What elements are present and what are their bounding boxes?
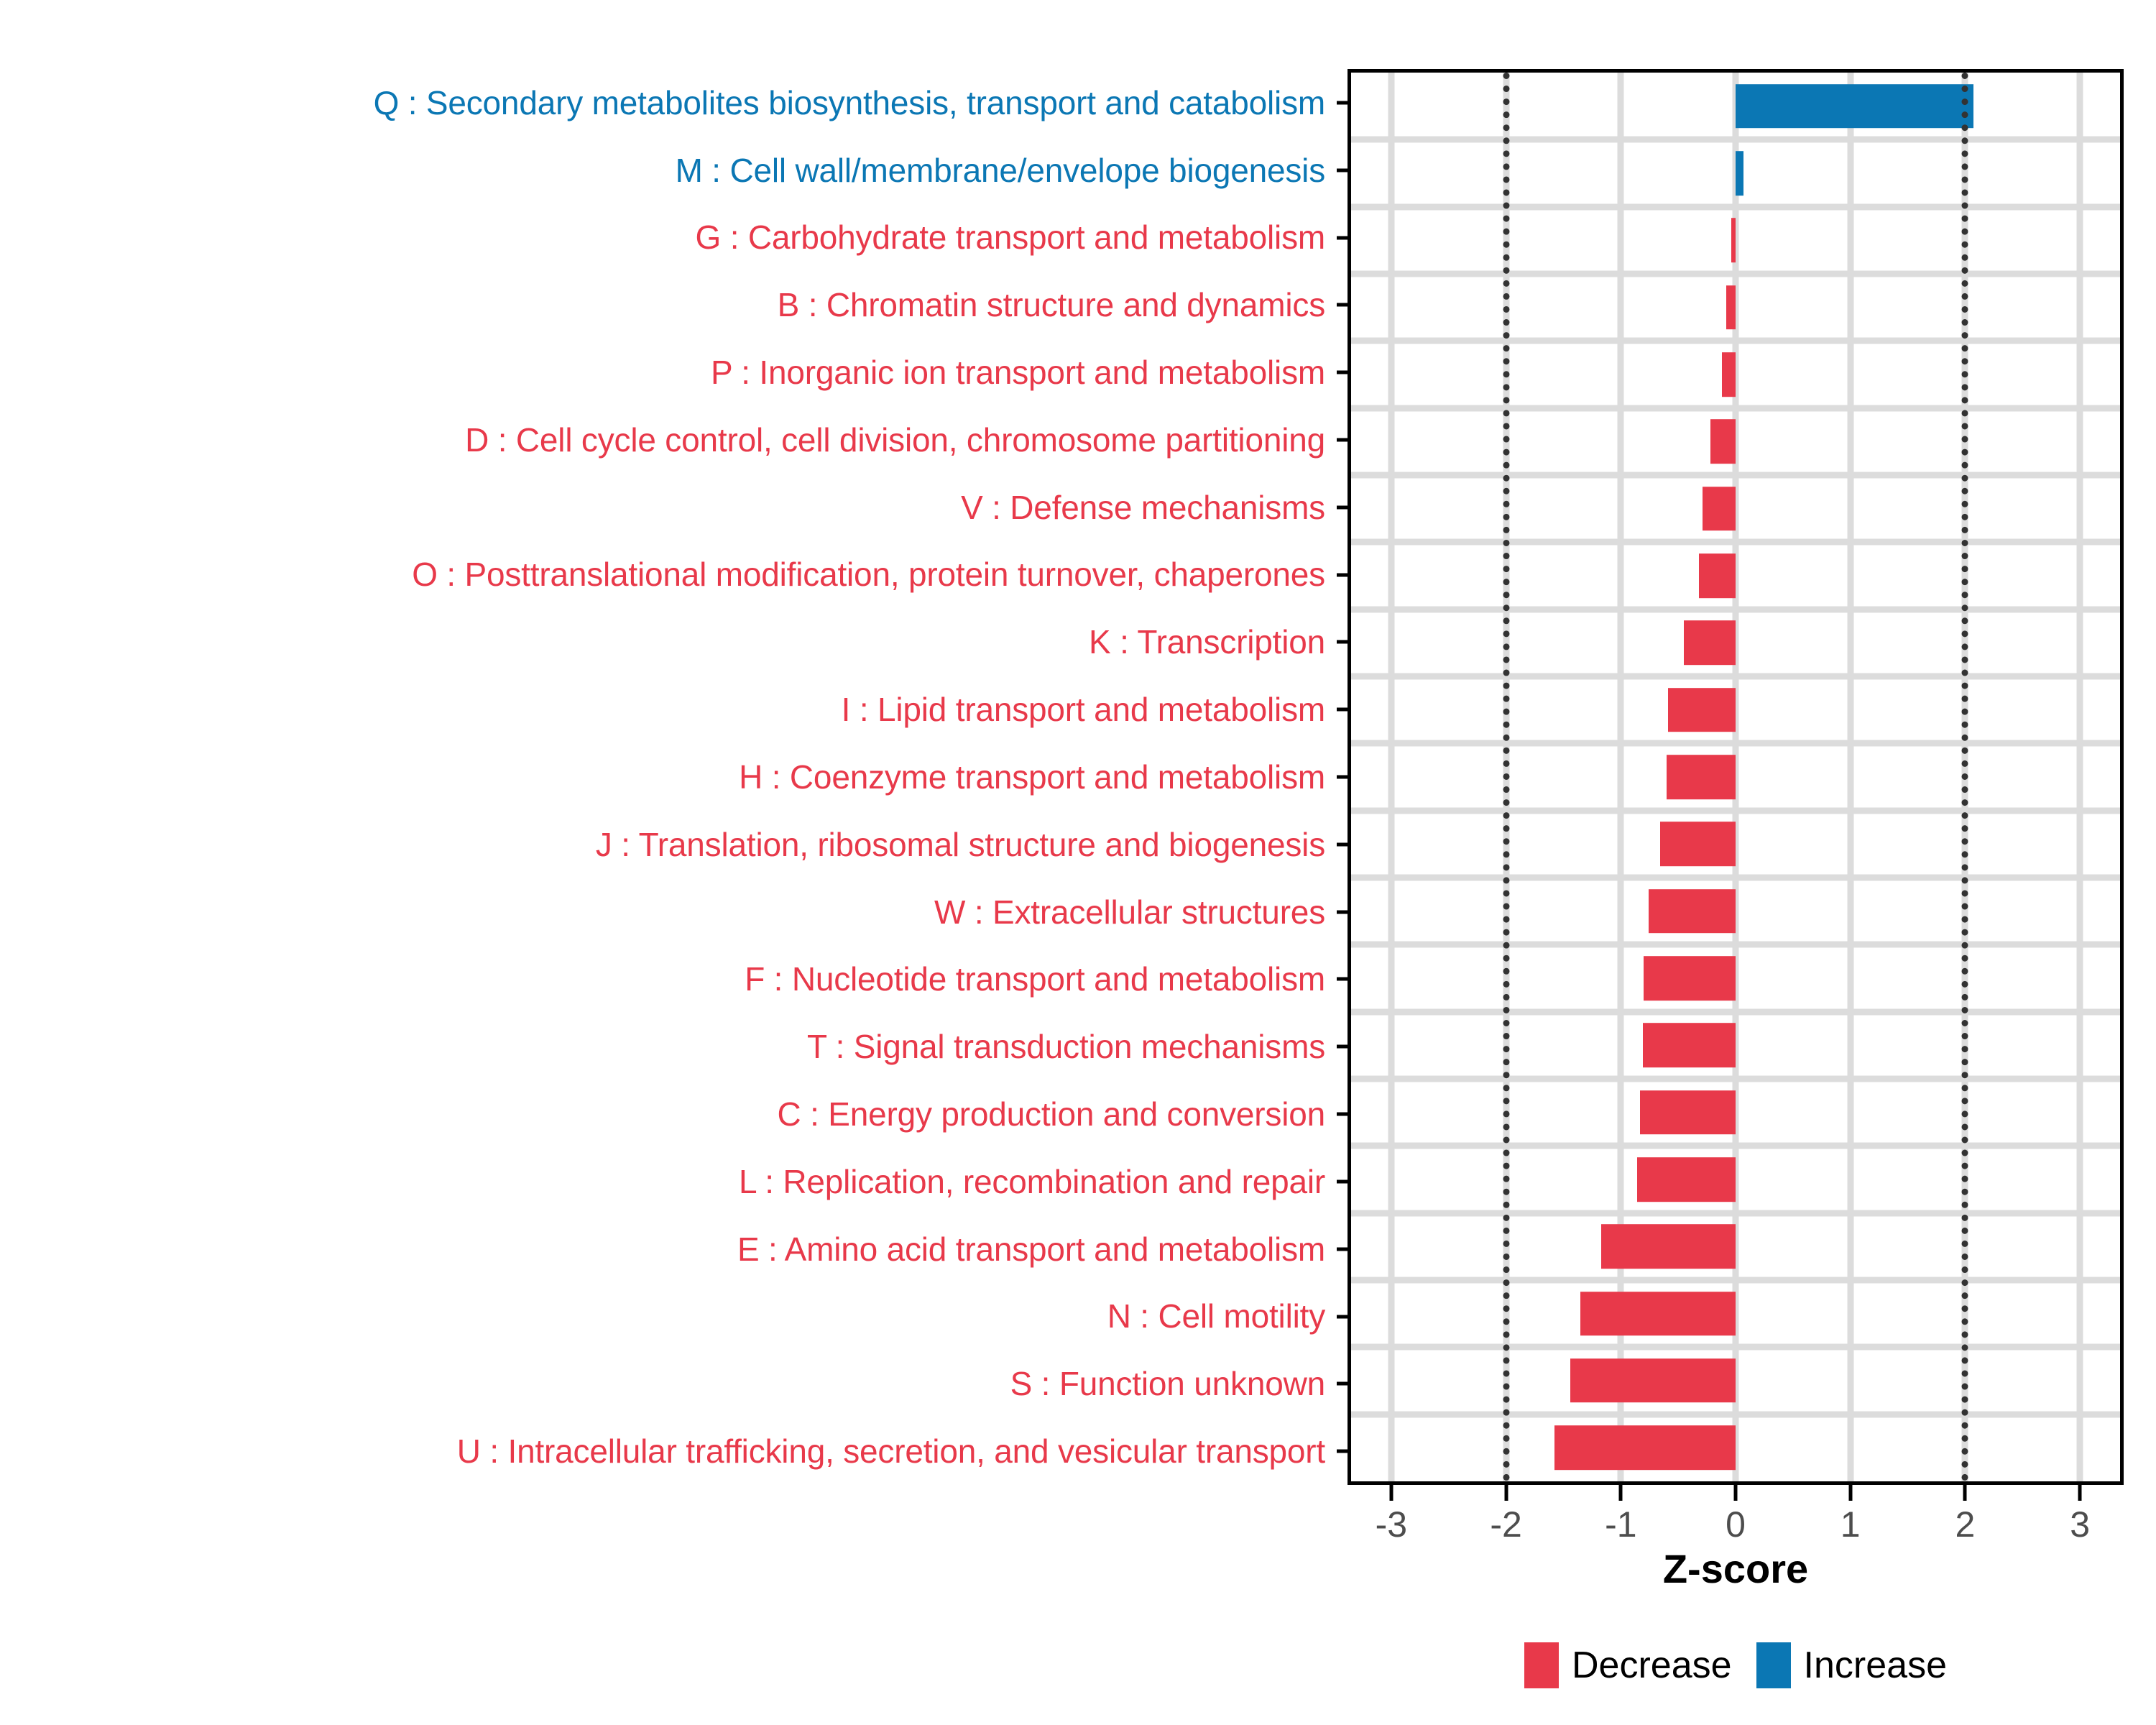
bar[interactable] bbox=[1667, 755, 1736, 799]
y-axis-tick bbox=[1337, 1045, 1347, 1049]
y-axis-label-row: W : Extracellular structures bbox=[0, 878, 1337, 946]
y-axis-category-label: M : Cell wall/membrane/envelope biogenes… bbox=[676, 153, 1325, 188]
y-axis-tick bbox=[1337, 101, 1347, 104]
bar[interactable] bbox=[1649, 889, 1736, 934]
y-axis-category-label: O : Posttranslational modification, prot… bbox=[412, 557, 1325, 592]
y-axis-label-row: H : Coenzyme transport and metabolism bbox=[0, 743, 1337, 811]
y-axis-label-row: F : Nucleotide transport and metabolism bbox=[0, 946, 1337, 1013]
bar[interactable] bbox=[1726, 285, 1736, 330]
x-axis-tick bbox=[1734, 1485, 1738, 1501]
x-axis-tick-label: -2 bbox=[1490, 1504, 1521, 1545]
bar-row bbox=[1351, 73, 2120, 139]
x-axis-tick bbox=[1504, 1485, 1508, 1501]
y-axis-label-row: S : Function unknown bbox=[0, 1350, 1337, 1417]
x-axis-tick-label: 1 bbox=[1841, 1504, 1861, 1545]
y-axis-tick bbox=[1337, 371, 1347, 374]
y-axis-category-label: E : Amino acid transport and metabolism bbox=[737, 1232, 1325, 1266]
y-axis-tick-row bbox=[1337, 1215, 1347, 1283]
plot-panel bbox=[1347, 69, 2124, 1485]
y-axis-category-label: T : Signal transduction mechanisms bbox=[807, 1029, 1325, 1064]
y-axis-label-row: P : Inorganic ion transport and metaboli… bbox=[0, 339, 1337, 406]
y-axis-tick bbox=[1337, 1113, 1347, 1116]
y-axis-tick-row bbox=[1337, 1148, 1347, 1215]
y-axis-category-label: S : Function unknown bbox=[1010, 1366, 1325, 1401]
bar-row bbox=[1351, 609, 2120, 676]
y-axis-label-row: K : Transcription bbox=[0, 609, 1337, 676]
x-axis-tick bbox=[2078, 1485, 2082, 1501]
bar-row bbox=[1351, 878, 2120, 944]
bar[interactable] bbox=[1601, 1224, 1736, 1269]
bar[interactable] bbox=[1580, 1292, 1736, 1336]
y-axis-tick bbox=[1337, 1179, 1347, 1183]
bar[interactable] bbox=[1722, 352, 1736, 397]
y-axis-category-label: B : Chromatin structure and dynamics bbox=[778, 287, 1325, 322]
y-axis-tick bbox=[1337, 1450, 1347, 1453]
bar[interactable] bbox=[1736, 84, 1973, 129]
bar-row bbox=[1351, 944, 2120, 1011]
y-axis-tick bbox=[1337, 977, 1347, 981]
x-axis-tick-label: 0 bbox=[1726, 1504, 1746, 1545]
bar-row bbox=[1351, 1012, 2120, 1079]
bar-row bbox=[1351, 1414, 2120, 1481]
bar[interactable] bbox=[1660, 822, 1736, 866]
x-axis-tick-label: 3 bbox=[2070, 1504, 2090, 1545]
y-axis-category-label: Q : Secondary metabolites biosynthesis, … bbox=[374, 86, 1325, 120]
legend-color-swatch bbox=[1756, 1642, 1791, 1688]
bar[interactable] bbox=[1710, 420, 1736, 464]
legend-entry[interactable]: Decrease bbox=[1524, 1642, 1732, 1688]
y-axis-label-row: D : Cell cycle control, cell division, c… bbox=[0, 406, 1337, 474]
bar-row bbox=[1351, 341, 2120, 408]
y-axis-tick-row bbox=[1337, 474, 1347, 541]
y-axis-category-label: V : Defense mechanisms bbox=[961, 490, 1325, 525]
y-axis-label-row: E : Amino acid transport and metabolism bbox=[0, 1215, 1337, 1283]
bar-row bbox=[1351, 475, 2120, 542]
bar[interactable] bbox=[1668, 688, 1736, 732]
y-axis-tick bbox=[1337, 1315, 1347, 1318]
chart-legend: DecreaseIncrease bbox=[1347, 1633, 2124, 1698]
y-axis-category-label: G : Carbohydrate transport and metabolis… bbox=[696, 220, 1325, 254]
x-axis-tick bbox=[1619, 1485, 1623, 1501]
y-axis-label-row: U : Intracellular trafficking, secretion… bbox=[0, 1417, 1337, 1485]
y-axis-category-labels: Q : Secondary metabolites biosynthesis, … bbox=[0, 69, 1337, 1485]
y-axis-tick-row bbox=[1337, 676, 1347, 743]
legend-label: Increase bbox=[1804, 1644, 1947, 1687]
bar-row bbox=[1351, 139, 2120, 206]
y-axis-category-label: C : Energy production and conversion bbox=[778, 1097, 1325, 1131]
y-axis-category-label: L : Replication, recombination and repai… bbox=[739, 1164, 1325, 1199]
y-axis-tick-row bbox=[1337, 1417, 1347, 1485]
y-axis-label-row: B : Chromatin structure and dynamics bbox=[0, 271, 1337, 339]
bar-row bbox=[1351, 811, 2120, 878]
y-axis-tick bbox=[1337, 303, 1347, 307]
y-axis-tick-row bbox=[1337, 609, 1347, 676]
bar-row bbox=[1351, 1079, 2120, 1146]
bar[interactable] bbox=[1570, 1358, 1736, 1403]
y-axis-tick-row bbox=[1337, 1283, 1347, 1351]
bar-row bbox=[1351, 1280, 2120, 1347]
y-axis-tick-row bbox=[1337, 1013, 1347, 1080]
y-axis-tick bbox=[1337, 1382, 1347, 1386]
y-axis-tick-row bbox=[1337, 137, 1347, 204]
legend-label: Decrease bbox=[1572, 1644, 1732, 1687]
bar[interactable] bbox=[1736, 151, 1743, 195]
bar-row bbox=[1351, 542, 2120, 609]
y-axis-tick bbox=[1337, 573, 1347, 576]
y-axis-tick bbox=[1337, 1247, 1347, 1251]
y-axis-label-row: V : Defense mechanisms bbox=[0, 474, 1337, 541]
y-axis-tick-row bbox=[1337, 1350, 1347, 1417]
x-axis-tick-label: -3 bbox=[1376, 1504, 1407, 1545]
y-axis-tick-row bbox=[1337, 946, 1347, 1013]
y-axis-label-row: O : Posttranslational modification, prot… bbox=[0, 541, 1337, 609]
y-axis-label-row: T : Signal transduction mechanisms bbox=[0, 1013, 1337, 1080]
y-axis-label-row: M : Cell wall/membrane/envelope biogenes… bbox=[0, 137, 1337, 204]
bar[interactable] bbox=[1554, 1425, 1736, 1470]
x-axis-tick-label: -1 bbox=[1605, 1504, 1636, 1545]
y-axis-tick bbox=[1337, 438, 1347, 441]
y-axis-category-label: P : Inorganic ion transport and metaboli… bbox=[711, 355, 1325, 390]
y-axis-label-row: N : Cell motility bbox=[0, 1283, 1337, 1351]
y-axis-tick-row bbox=[1337, 406, 1347, 474]
plot-panel-inner bbox=[1351, 73, 2120, 1481]
y-axis-category-label: H : Coenzyme transport and metabolism bbox=[739, 760, 1325, 794]
y-axis-category-label: U : Intracellular trafficking, secretion… bbox=[457, 1434, 1325, 1468]
y-axis-label-row: I : Lipid transport and metabolism bbox=[0, 676, 1337, 743]
bar-row bbox=[1351, 408, 2120, 475]
y-axis-label-row: Q : Secondary metabolites biosynthesis, … bbox=[0, 69, 1337, 137]
y-axis-tick bbox=[1337, 505, 1347, 509]
y-axis-tick-row bbox=[1337, 541, 1347, 609]
bar-row bbox=[1351, 1146, 2120, 1213]
y-axis-label-row: J : Translation, ribosomal structure and… bbox=[0, 811, 1337, 878]
bar-row bbox=[1351, 1213, 2120, 1280]
bar[interactable] bbox=[1643, 1023, 1736, 1067]
y-axis-category-label: N : Cell motility bbox=[1107, 1299, 1325, 1333]
y-axis-label-row: G : Carbohydrate transport and metabolis… bbox=[0, 204, 1337, 272]
legend-entry[interactable]: Increase bbox=[1756, 1642, 1947, 1688]
y-axis-tick-row bbox=[1337, 1080, 1347, 1148]
bar-row bbox=[1351, 1347, 2120, 1414]
bar[interactable] bbox=[1684, 620, 1736, 665]
y-axis-tick bbox=[1337, 910, 1347, 914]
y-axis-category-label: K : Transcription bbox=[1089, 625, 1325, 659]
y-axis-category-label: D : Cell cycle control, cell division, c… bbox=[465, 423, 1325, 457]
bar-row bbox=[1351, 274, 2120, 341]
y-axis-tick-row bbox=[1337, 743, 1347, 811]
reference-line bbox=[1962, 73, 1968, 1481]
bar[interactable] bbox=[1637, 1157, 1736, 1202]
y-axis-tick-row bbox=[1337, 271, 1347, 339]
y-axis-tick bbox=[1337, 708, 1347, 712]
bar[interactable] bbox=[1731, 218, 1736, 263]
bar-series bbox=[1351, 73, 2120, 1481]
y-axis-tick-row bbox=[1337, 878, 1347, 946]
y-axis-category-label: I : Lipid transport and metabolism bbox=[842, 692, 1325, 727]
bar[interactable] bbox=[1703, 487, 1736, 531]
x-axis-tick bbox=[1963, 1485, 1967, 1501]
y-axis-tick bbox=[1337, 842, 1347, 846]
y-axis-category-label: F : Nucleotide transport and metabolism bbox=[745, 962, 1325, 996]
y-axis-tick bbox=[1337, 168, 1347, 172]
reference-line bbox=[1503, 73, 1509, 1481]
y-axis-tick bbox=[1337, 776, 1347, 779]
cog-category-zscore-bar-chart: Q : Secondary metabolites biosynthesis, … bbox=[0, 0, 2156, 1725]
x-axis-tick bbox=[1389, 1485, 1393, 1501]
bar[interactable] bbox=[1644, 956, 1736, 1000]
x-axis-tick-label: 2 bbox=[1955, 1504, 1975, 1545]
bar[interactable] bbox=[1699, 553, 1736, 598]
y-axis-label-row: C : Energy production and conversion bbox=[0, 1080, 1337, 1148]
y-axis-tick-marks bbox=[1337, 69, 1347, 1485]
y-axis-category-label: W : Extracellular structures bbox=[934, 895, 1325, 929]
y-axis-category-label: J : Translation, ribosomal structure and… bbox=[596, 827, 1325, 862]
x-axis-tick bbox=[1848, 1485, 1852, 1501]
bar-row bbox=[1351, 207, 2120, 274]
y-axis-tick-row bbox=[1337, 69, 1347, 137]
y-axis-tick-row bbox=[1337, 339, 1347, 406]
bar[interactable] bbox=[1640, 1090, 1736, 1135]
legend-color-swatch bbox=[1524, 1642, 1559, 1688]
x-axis-title: Z-score bbox=[1347, 1545, 2124, 1592]
y-axis-label-row: L : Replication, recombination and repai… bbox=[0, 1148, 1337, 1215]
y-axis-tick bbox=[1337, 640, 1347, 644]
bar-row bbox=[1351, 743, 2120, 810]
y-axis-tick bbox=[1337, 236, 1347, 239]
bar-row bbox=[1351, 676, 2120, 743]
y-axis-tick-row bbox=[1337, 204, 1347, 272]
y-axis-tick-row bbox=[1337, 811, 1347, 878]
